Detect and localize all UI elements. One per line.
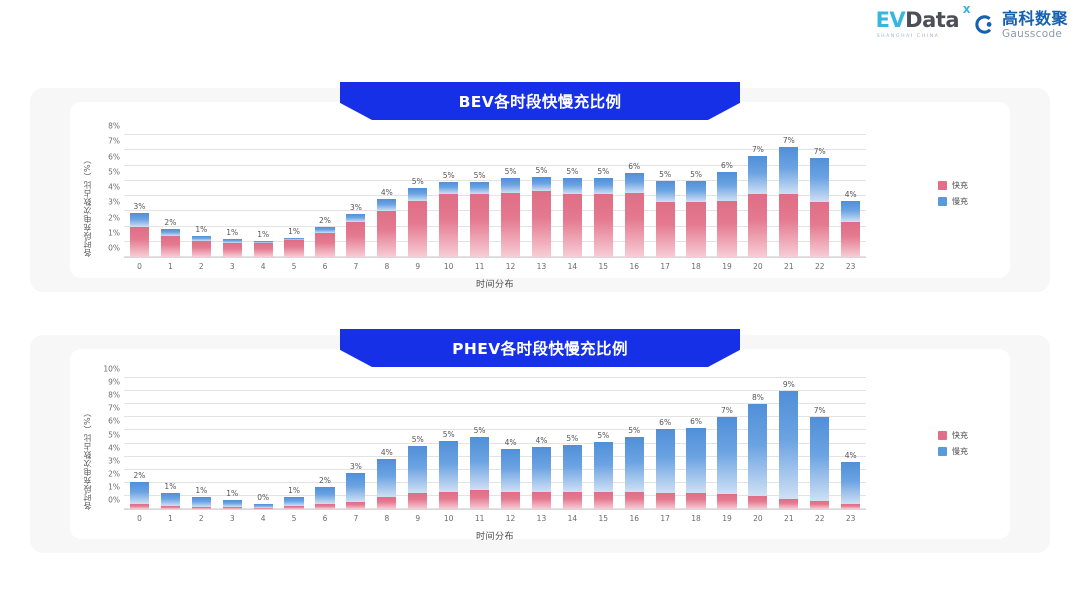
- bar-segment-fast-charge[interactable]: [810, 501, 829, 509]
- stacked-bar[interactable]: 5%: [563, 178, 582, 257]
- y-axis-tick: 5%: [108, 430, 120, 439]
- bar-segment-fast-charge[interactable]: [594, 492, 613, 509]
- bar-segment-slow-charge[interactable]: [810, 417, 829, 501]
- legend-swatch-slow: [938, 197, 947, 206]
- evdata-suffix: Data: [905, 8, 959, 32]
- phev-chart-title: PHEV各时段快慢充比例: [340, 329, 740, 367]
- x-axis-tick: 3: [217, 262, 248, 271]
- bar-segment-slow-charge[interactable]: [532, 447, 551, 492]
- bar-segment-fast-charge[interactable]: [346, 502, 365, 509]
- gausscode-g-mark-icon: [973, 13, 996, 36]
- bar-segment-fast-charge[interactable]: [748, 496, 767, 509]
- stacked-bar[interactable]: 6%: [686, 428, 705, 509]
- bar-value-label: 4%: [845, 190, 857, 199]
- bar-segment-slow-charge[interactable]: [161, 229, 180, 236]
- bar-segment-fast-charge[interactable]: [779, 499, 798, 509]
- y-axis-tick: 0%: [108, 496, 120, 505]
- y-axis-tick: 6%: [108, 152, 120, 161]
- stacked-bar[interactable]: 5%: [470, 437, 489, 509]
- bar-segment-fast-charge[interactable]: [439, 194, 458, 257]
- y-axis-tick: 8%: [108, 391, 120, 400]
- bar-segment-slow-charge[interactable]: [563, 178, 582, 194]
- bar-segment-slow-charge[interactable]: [532, 177, 551, 191]
- stacked-bar[interactable]: 7%: [779, 147, 798, 257]
- bar-segment-fast-charge[interactable]: [408, 201, 427, 257]
- stacked-bar[interactable]: 2%: [315, 487, 334, 509]
- bar-segment-fast-charge[interactable]: [439, 492, 458, 509]
- bar-column[interactable]: 2%: [310, 135, 341, 257]
- bar-column[interactable]: 5%: [557, 135, 588, 257]
- bar-value-label: 5%: [443, 171, 455, 180]
- x-axis-tick: 1: [155, 262, 186, 271]
- bar-value-label: 2%: [319, 216, 331, 225]
- bar-segment-slow-charge[interactable]: [779, 391, 798, 499]
- bar-value-label: 2%: [134, 471, 146, 480]
- bar-column[interactable]: 1%: [186, 378, 217, 509]
- y-axis-tick: 9%: [108, 378, 120, 387]
- bar-value-label: 5%: [597, 167, 609, 176]
- y-axis-tick: 5%: [108, 167, 120, 176]
- bar-column[interactable]: 5%: [433, 135, 464, 257]
- bar-segment-slow-charge[interactable]: [748, 156, 767, 194]
- bar-column[interactable]: 4%: [371, 378, 402, 509]
- bar-segment-fast-charge[interactable]: [656, 202, 675, 257]
- stacked-bar[interactable]: 2%: [161, 229, 180, 257]
- y-axis-tick: 10%: [103, 365, 120, 374]
- bar-segment-slow-charge[interactable]: [130, 482, 149, 504]
- bar-segment-fast-charge[interactable]: [501, 193, 520, 257]
- stacked-bar[interactable]: 4%: [377, 199, 396, 257]
- bar-column[interactable]: 1%: [279, 135, 310, 257]
- bar-value-label: 7%: [783, 136, 795, 145]
- x-axis-tick: 12: [495, 514, 526, 523]
- legend-item-fast: 快充: [938, 180, 968, 191]
- stacked-bar[interactable]: 3%: [346, 214, 365, 257]
- x-axis-tick: 8: [371, 262, 402, 271]
- stacked-bar[interactable]: 6%: [656, 429, 675, 509]
- bar-value-label: 7%: [814, 406, 826, 415]
- bar-column[interactable]: 4%: [371, 135, 402, 257]
- stacked-bar[interactable]: 3%: [130, 213, 149, 257]
- stacked-bar[interactable]: 7%: [717, 417, 736, 509]
- bar-segment-fast-charge[interactable]: [686, 493, 705, 509]
- bar-segment-slow-charge[interactable]: [223, 500, 242, 507]
- bar-segment-slow-charge[interactable]: [748, 404, 767, 496]
- bar-segment-fast-charge[interactable]: [377, 211, 396, 257]
- bar-column[interactable]: 1%: [217, 135, 248, 257]
- x-axis-tick: 21: [773, 262, 804, 271]
- x-axis-tick: 16: [619, 262, 650, 271]
- bar-segment-slow-charge[interactable]: [377, 199, 396, 211]
- bev-legend: 快充 慢充: [938, 180, 968, 207]
- stacked-bar[interactable]: 2%: [130, 482, 149, 509]
- bev-chart-title: BEV各时段快慢充比例: [340, 82, 740, 120]
- bar-column[interactable]: 2%: [155, 135, 186, 257]
- bar-segment-slow-charge[interactable]: [192, 497, 211, 506]
- bar-value-label: 6%: [628, 162, 640, 171]
- legend-item-slow: 慢充: [938, 446, 968, 457]
- bar-value-label: 5%: [535, 166, 547, 175]
- stacked-bar[interactable]: 1%: [192, 497, 211, 509]
- x-axis-tick: 7: [340, 514, 371, 523]
- y-axis-tick: 6%: [108, 417, 120, 426]
- bar-segment-fast-charge[interactable]: [625, 492, 644, 509]
- bar-column[interactable]: 5%: [402, 378, 433, 509]
- stacked-bar[interactable]: 5%: [686, 181, 705, 257]
- bar-segment-fast-charge[interactable]: [717, 494, 736, 509]
- y-axis-tick: 3%: [108, 198, 120, 207]
- bar-value-label: 6%: [721, 161, 733, 170]
- bar-column[interactable]: 3%: [340, 378, 371, 509]
- stacked-bar[interactable]: 7%: [810, 417, 829, 509]
- gausscode-en-name: Gausscode: [1002, 29, 1068, 40]
- bar-column[interactable]: 5%: [526, 135, 557, 257]
- y-axis-tick: 7%: [108, 404, 120, 413]
- legend-swatch-fast: [938, 431, 947, 440]
- bar-value-label: 5%: [505, 167, 517, 176]
- bar-value-label: 5%: [412, 435, 424, 444]
- bar-value-label: 1%: [195, 486, 207, 495]
- x-axis-tick: 10: [433, 514, 464, 523]
- bar-segment-fast-charge[interactable]: [748, 194, 767, 257]
- bev-bars: 3%2%1%1%1%1%2%3%4%5%5%5%5%5%5%5%6%5%5%6%…: [124, 135, 866, 257]
- bar-value-label: 1%: [164, 482, 176, 491]
- stacked-bar[interactable]: 5%: [532, 177, 551, 257]
- bar-value-label: 9%: [783, 380, 795, 389]
- bar-column[interactable]: 0%: [248, 378, 279, 509]
- bar-segment-slow-charge[interactable]: [810, 158, 829, 202]
- stacked-bar[interactable]: 6%: [625, 173, 644, 257]
- x-axis-tick: 9: [402, 262, 433, 271]
- bar-segment-slow-charge[interactable]: [161, 493, 180, 505]
- x-axis-tick: 0: [124, 514, 155, 523]
- phev-y-axis-label: 各时段充电次数占比（%）: [82, 382, 93, 510]
- stacked-bar[interactable]: 5%: [594, 178, 613, 257]
- x-axis-tick: 1: [155, 514, 186, 523]
- x-axis-tick: 22: [804, 262, 835, 271]
- bar-column[interactable]: 3%: [340, 135, 371, 257]
- stacked-bar[interactable]: 5%: [439, 441, 458, 509]
- evdata-logo: EVData x SHANGHAI CHINA: [876, 10, 959, 39]
- bar-segment-fast-charge[interactable]: [656, 493, 675, 509]
- bar-column[interactable]: 5%: [557, 378, 588, 509]
- stacked-bar[interactable]: 1%: [284, 238, 303, 257]
- bar-column[interactable]: 4%: [835, 135, 866, 257]
- stacked-bar[interactable]: 1%: [254, 241, 273, 257]
- y-axis-tick: 0%: [108, 244, 120, 253]
- phev-bars: 2%1%1%1%0%1%2%3%4%5%5%5%4%4%5%5%5%6%6%7%…: [124, 378, 866, 509]
- x-axis-tick: 11: [464, 262, 495, 271]
- x-axis-tick: 2: [186, 514, 217, 523]
- bar-segment-slow-charge[interactable]: [346, 473, 365, 502]
- stacked-bar[interactable]: 5%: [625, 437, 644, 509]
- bar-segment-fast-charge[interactable]: [408, 493, 427, 509]
- stacked-bar[interactable]: 1%: [161, 493, 180, 509]
- x-axis-tick: 23: [835, 262, 866, 271]
- stacked-bar[interactable]: 5%: [656, 181, 675, 257]
- bar-value-label: 5%: [659, 170, 671, 179]
- bar-segment-fast-charge[interactable]: [377, 497, 396, 509]
- bar-segment-fast-charge[interactable]: [254, 243, 273, 257]
- bar-value-label: 8%: [752, 393, 764, 402]
- bar-value-label: 5%: [628, 426, 640, 435]
- bar-segment-slow-charge[interactable]: [501, 449, 520, 492]
- bar-segment-fast-charge[interactable]: [532, 191, 551, 257]
- bar-column[interactable]: 7%: [773, 135, 804, 257]
- bar-column[interactable]: 5%: [650, 135, 681, 257]
- x-axis-tick: 5: [279, 262, 310, 271]
- x-axis-tick: 11: [464, 514, 495, 523]
- bar-column[interactable]: 6%: [650, 378, 681, 509]
- logo-bar: EVData x SHANGHAI CHINA 高科数聚 Gausscode: [876, 10, 1068, 39]
- bar-segment-fast-charge[interactable]: [130, 227, 149, 258]
- bar-segment-fast-charge[interactable]: [594, 194, 613, 257]
- bar-column[interactable]: 2%: [310, 378, 341, 509]
- x-axis-tick: 18: [681, 514, 712, 523]
- bar-value-label: 4%: [381, 448, 393, 457]
- bar-column[interactable]: 6%: [619, 135, 650, 257]
- bar-value-label: 2%: [164, 218, 176, 227]
- bar-column[interactable]: 7%: [712, 378, 743, 509]
- bar-column[interactable]: 2%: [124, 378, 155, 509]
- bar-column[interactable]: 6%: [712, 135, 743, 257]
- bar-segment-fast-charge[interactable]: [346, 222, 365, 257]
- bar-segment-slow-charge[interactable]: [284, 497, 303, 506]
- bar-segment-slow-charge[interactable]: [625, 173, 644, 193]
- stacked-bar[interactable]: 3%: [346, 473, 365, 509]
- bar-segment-fast-charge[interactable]: [717, 201, 736, 257]
- bar-segment-slow-charge[interactable]: [470, 437, 489, 490]
- bar-segment-slow-charge[interactable]: [501, 178, 520, 192]
- evdata-subtitle: SHANGHAI CHINA: [877, 34, 940, 39]
- stacked-bar[interactable]: 5%: [408, 446, 427, 509]
- bar-segment-slow-charge[interactable]: [841, 462, 860, 505]
- stacked-bar[interactable]: 6%: [717, 172, 736, 257]
- bar-segment-slow-charge[interactable]: [346, 214, 365, 222]
- x-axis-tick: 19: [712, 514, 743, 523]
- x-axis-tick: 22: [804, 514, 835, 523]
- evdata-prefix: EV: [876, 8, 906, 32]
- legend-swatch-slow: [938, 447, 947, 456]
- stacked-bar[interactable]: 2%: [315, 227, 334, 257]
- x-axis-tick: 14: [557, 262, 588, 271]
- bar-segment-slow-charge[interactable]: [408, 446, 427, 493]
- y-axis-tick: 1%: [108, 482, 120, 491]
- stacked-bar[interactable]: 5%: [501, 178, 520, 257]
- x-axis-tick: 12: [495, 262, 526, 271]
- x-axis-tick: 4: [248, 262, 279, 271]
- x-axis-tick: 14: [557, 514, 588, 523]
- y-axis-tick: 4%: [108, 443, 120, 452]
- x-axis-tick: 2: [186, 262, 217, 271]
- stacked-bar[interactable]: 7%: [810, 158, 829, 257]
- x-axis-tick: 4: [248, 514, 279, 523]
- stacked-bar[interactable]: 4%: [841, 462, 860, 509]
- bar-column[interactable]: 1%: [248, 135, 279, 257]
- bar-value-label: 4%: [535, 436, 547, 445]
- bar-value-label: 1%: [257, 230, 269, 239]
- x-axis-tick: 8: [371, 514, 402, 523]
- bar-segment-fast-charge[interactable]: [315, 233, 334, 257]
- bar-segment-fast-charge[interactable]: [625, 193, 644, 257]
- bar-column[interactable]: 5%: [433, 378, 464, 509]
- stacked-bar[interactable]: 4%: [501, 449, 520, 509]
- bar-segment-slow-charge[interactable]: [377, 459, 396, 496]
- bar-column[interactable]: 8%: [742, 378, 773, 509]
- x-axis-tick: 21: [773, 514, 804, 523]
- phev-chart: 各时段充电次数占比（%） 0%1%2%3%4%5%6%7%8%9%10% 2%1…: [78, 378, 978, 546]
- x-axis-tick: 3: [217, 514, 248, 523]
- stacked-bar[interactable]: 5%: [594, 442, 613, 509]
- bar-segment-slow-charge[interactable]: [717, 172, 736, 201]
- bar-column[interactable]: 1%: [279, 378, 310, 509]
- bar-segment-slow-charge[interactable]: [686, 428, 705, 493]
- legend-item-fast: 快充: [938, 430, 968, 441]
- bar-column[interactable]: 7%: [804, 135, 835, 257]
- bar-segment-fast-charge[interactable]: [470, 194, 489, 257]
- stacked-bar[interactable]: 5%: [470, 182, 489, 257]
- bar-column[interactable]: 4%: [835, 378, 866, 509]
- bar-segment-slow-charge[interactable]: [656, 429, 675, 493]
- bar-segment-fast-charge[interactable]: [470, 490, 489, 509]
- y-axis-tick: 3%: [108, 456, 120, 465]
- bar-column[interactable]: 5%: [464, 378, 495, 509]
- bar-column[interactable]: 4%: [526, 378, 557, 509]
- bar-segment-fast-charge[interactable]: [223, 243, 242, 257]
- bar-segment-fast-charge[interactable]: [563, 194, 582, 257]
- bar-column[interactable]: 5%: [681, 135, 712, 257]
- bar-segment-slow-charge[interactable]: [130, 213, 149, 227]
- bar-segment-fast-charge[interactable]: [686, 202, 705, 257]
- bar-column[interactable]: 5%: [402, 135, 433, 257]
- bar-value-label: 5%: [474, 171, 486, 180]
- bar-column[interactable]: 1%: [186, 135, 217, 257]
- bar-segment-slow-charge[interactable]: [841, 201, 860, 222]
- stacked-bar[interactable]: 1%: [223, 500, 242, 509]
- x-axis-tick: 0: [124, 262, 155, 271]
- bar-column[interactable]: 3%: [124, 135, 155, 257]
- stacked-bar[interactable]: 1%: [223, 239, 242, 257]
- bar-value-label: 1%: [226, 489, 238, 498]
- bar-value-label: 7%: [721, 406, 733, 415]
- bar-segment-fast-charge[interactable]: [532, 492, 551, 509]
- stacked-bar[interactable]: 5%: [563, 445, 582, 509]
- phev-x-axis-ticks: 01234567891011121314151617181920212223: [124, 509, 866, 523]
- bar-segment-slow-charge[interactable]: [779, 147, 798, 194]
- x-axis-tick: 5: [279, 514, 310, 523]
- bar-column[interactable]: 5%: [464, 135, 495, 257]
- bar-segment-slow-charge[interactable]: [563, 445, 582, 492]
- bar-value-label: 3%: [350, 462, 362, 471]
- stacked-bar[interactable]: 5%: [439, 182, 458, 257]
- bar-value-label: 1%: [195, 225, 207, 234]
- bar-column[interactable]: 4%: [495, 378, 526, 509]
- legend-label-slow: 慢充: [952, 446, 968, 457]
- y-axis-tick: 2%: [108, 469, 120, 478]
- bar-segment-slow-charge[interactable]: [315, 487, 334, 505]
- bev-plot-area: 0%1%2%3%4%5%6%7%8% 3%2%1%1%1%1%2%3%4%5%5…: [124, 135, 866, 257]
- y-axis-tick: 1%: [108, 228, 120, 237]
- bar-column[interactable]: 9%: [773, 378, 804, 509]
- bar-segment-slow-charge[interactable]: [717, 417, 736, 494]
- phev-x-axis-label: 时间分布: [124, 529, 866, 542]
- bar-value-label: 4%: [505, 438, 517, 447]
- stacked-bar[interactable]: 1%: [192, 236, 211, 257]
- bar-value-label: 6%: [659, 418, 671, 427]
- bar-value-label: 2%: [319, 476, 331, 485]
- bev-x-axis-label: 时间分布: [124, 277, 866, 290]
- bar-column[interactable]: 7%: [804, 378, 835, 509]
- stacked-bar[interactable]: 4%: [841, 201, 860, 257]
- evdata-wordmark: EVData x: [876, 10, 959, 31]
- bar-column[interactable]: 6%: [681, 378, 712, 509]
- bar-column[interactable]: 5%: [495, 135, 526, 257]
- x-axis-tick: 15: [588, 514, 619, 523]
- stacked-bar[interactable]: 1%: [284, 497, 303, 509]
- bar-value-label: 5%: [474, 426, 486, 435]
- bar-column[interactable]: 1%: [155, 378, 186, 509]
- bar-value-label: 6%: [690, 417, 702, 426]
- legend-label-fast: 快充: [952, 430, 968, 441]
- x-axis-tick: 17: [650, 514, 681, 523]
- bar-segment-slow-charge[interactable]: [656, 181, 675, 202]
- stacked-bar[interactable]: 9%: [779, 391, 798, 509]
- x-axis-tick: 20: [742, 514, 773, 523]
- phev-legend: 快充 慢充: [938, 430, 968, 457]
- bar-segment-fast-charge[interactable]: [284, 240, 303, 257]
- x-axis-tick: 13: [526, 262, 557, 271]
- bar-value-label: 5%: [443, 430, 455, 439]
- stacked-bar[interactable]: 5%: [408, 188, 427, 257]
- stacked-bar[interactable]: 4%: [532, 447, 551, 509]
- bar-segment-fast-charge[interactable]: [841, 222, 860, 257]
- stacked-bar[interactable]: 7%: [748, 156, 767, 257]
- bar-column[interactable]: 5%: [588, 135, 619, 257]
- bar-value-label: 5%: [566, 434, 578, 443]
- bar-segment-slow-charge[interactable]: [594, 442, 613, 492]
- bar-segment-slow-charge[interactable]: [625, 437, 644, 492]
- bar-segment-slow-charge[interactable]: [470, 182, 489, 195]
- bar-segment-slow-charge[interactable]: [594, 178, 613, 194]
- bar-segment-fast-charge[interactable]: [563, 492, 582, 509]
- bar-value-label: 4%: [845, 451, 857, 460]
- bar-segment-fast-charge[interactable]: [192, 241, 211, 257]
- legend-label-fast: 快充: [952, 180, 968, 191]
- bar-segment-slow-charge[interactable]: [439, 182, 458, 194]
- bar-column[interactable]: 5%: [588, 378, 619, 509]
- bar-segment-fast-charge[interactable]: [501, 492, 520, 509]
- y-axis-tick: 7%: [108, 137, 120, 146]
- bar-segment-fast-charge[interactable]: [161, 236, 180, 257]
- bar-value-label: 5%: [412, 177, 424, 186]
- bar-segment-slow-charge[interactable]: [439, 441, 458, 492]
- bar-column[interactable]: 5%: [619, 378, 650, 509]
- x-axis-tick: 6: [310, 262, 341, 271]
- x-axis-tick: 6: [310, 514, 341, 523]
- y-axis-tick: 4%: [108, 183, 120, 192]
- bar-segment-fast-charge[interactable]: [810, 202, 829, 257]
- bar-segment-slow-charge[interactable]: [408, 188, 427, 201]
- x-axis-tick: 18: [681, 262, 712, 271]
- bar-column[interactable]: 7%: [742, 135, 773, 257]
- bar-segment-fast-charge[interactable]: [779, 194, 798, 257]
- bar-column[interactable]: 1%: [217, 378, 248, 509]
- bar-segment-slow-charge[interactable]: [686, 181, 705, 202]
- stacked-bar[interactable]: 8%: [748, 404, 767, 509]
- y-axis-tick: 8%: [108, 122, 120, 131]
- stacked-bar[interactable]: 4%: [377, 459, 396, 509]
- bar-value-label: 7%: [814, 147, 826, 156]
